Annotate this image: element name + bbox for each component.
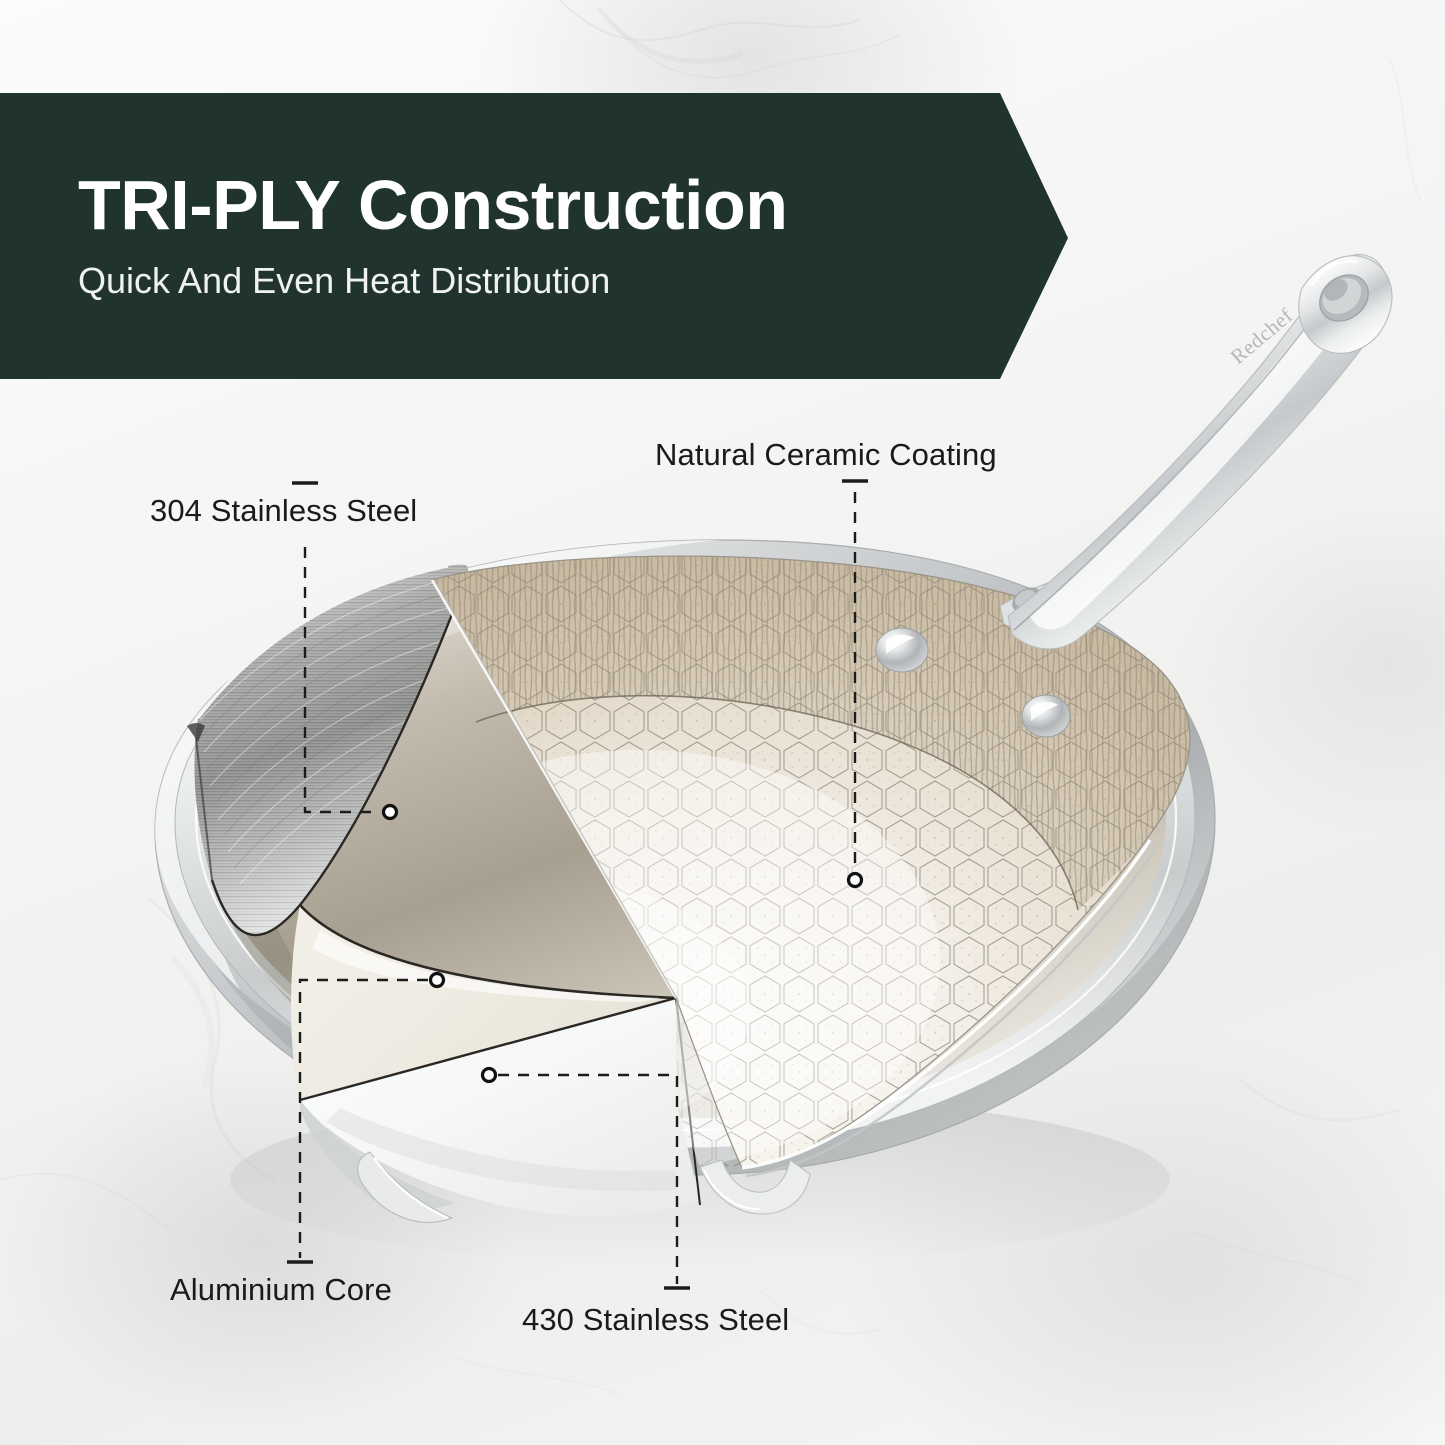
infographic-canvas: Redchef: [0, 0, 1445, 1445]
leader-304: [305, 547, 380, 812]
callout-label-aluminium-core: Aluminium Core: [170, 1272, 392, 1308]
banner-title: TRI-PLY Construction: [78, 170, 978, 241]
marker-ceramic: [849, 874, 862, 887]
leader-aluminium: [300, 980, 428, 1258]
marker-430: [483, 1069, 496, 1082]
callout-label-ceramic: Natural Ceramic Coating: [655, 437, 997, 473]
header-banner: TRI-PLY Construction Quick And Even Heat…: [0, 93, 1070, 379]
banner-subtitle: Quick And Even Heat Distribution: [78, 259, 978, 302]
callout-label-304-stainless-steel: 304 Stainless Steel: [150, 493, 417, 529]
marker-aluminium: [431, 974, 444, 987]
callout-label-430-stainless-steel: 430 Stainless Steel: [522, 1302, 789, 1338]
marker-304: [384, 806, 397, 819]
leader-430: [498, 1075, 677, 1284]
